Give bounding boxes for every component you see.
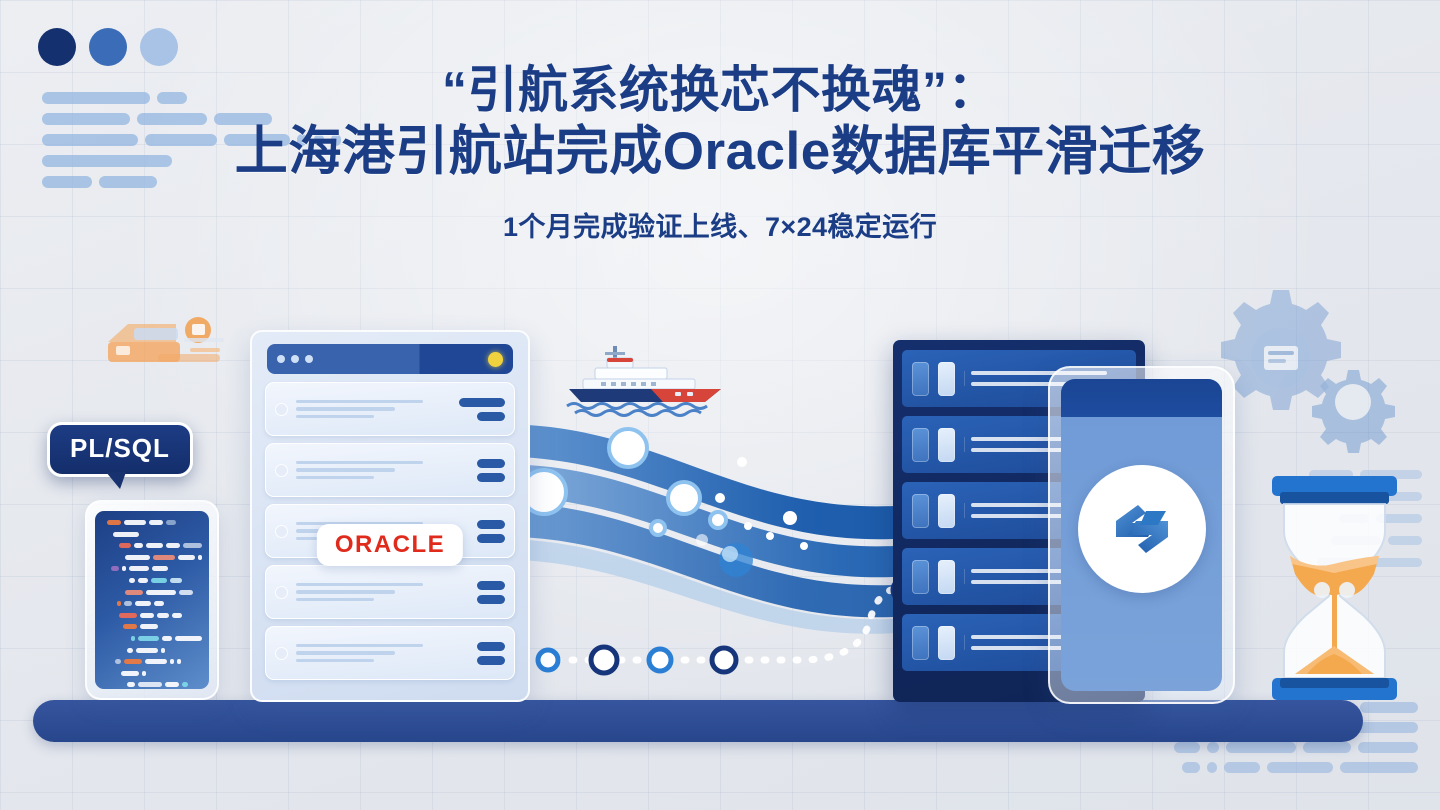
code-line bbox=[102, 565, 202, 572]
base-platform-bar bbox=[33, 700, 1363, 742]
migration-path-node bbox=[538, 650, 558, 670]
page-subtitle: 1个月完成验证上线、7×24稳定运行 bbox=[0, 205, 1440, 244]
orange-boat-icon bbox=[98, 308, 238, 380]
slot-button-icon[interactable] bbox=[477, 595, 505, 604]
slot-label-bars bbox=[296, 461, 437, 479]
slot-button-icon[interactable] bbox=[477, 581, 505, 590]
code-token bbox=[166, 543, 179, 548]
decor-code-bar bbox=[1174, 742, 1200, 753]
slot-label-bars bbox=[296, 583, 437, 601]
rack-slot[interactable] bbox=[265, 626, 515, 680]
code-token bbox=[123, 624, 137, 629]
oracle-logo-badge: ORACLE bbox=[317, 524, 463, 566]
slot-controls bbox=[445, 398, 505, 421]
slot-controls bbox=[445, 581, 505, 604]
slot-indicator-icon bbox=[275, 464, 288, 477]
code-token bbox=[177, 659, 181, 664]
drive-bay-icon bbox=[938, 560, 955, 594]
drive-bay-icon bbox=[912, 560, 929, 594]
slot-button-icon[interactable] bbox=[477, 534, 505, 543]
slot-label-bar bbox=[296, 400, 423, 403]
slot-label-bar bbox=[296, 476, 374, 479]
slot-label-bar bbox=[296, 407, 395, 410]
slot-button-icon[interactable] bbox=[477, 473, 505, 482]
code-token bbox=[135, 601, 151, 606]
drive-bay-icon bbox=[938, 626, 955, 660]
code-token bbox=[162, 636, 172, 641]
tablet-status-bar bbox=[1061, 379, 1222, 417]
code-line bbox=[102, 531, 202, 538]
code-token bbox=[129, 566, 149, 571]
code-token bbox=[119, 543, 131, 548]
slot-label-bar bbox=[296, 415, 374, 418]
code-editor-tablet[interactable] bbox=[85, 500, 219, 700]
rack-slot[interactable] bbox=[265, 565, 515, 619]
code-token bbox=[124, 659, 142, 664]
flow-node bbox=[609, 429, 647, 467]
slot-label-bar bbox=[296, 644, 423, 647]
code-line bbox=[102, 647, 202, 654]
code-token bbox=[140, 624, 158, 629]
rack-slot[interactable] bbox=[265, 382, 515, 436]
code-token bbox=[151, 578, 167, 583]
migration-path-node bbox=[649, 649, 671, 671]
decor-code-bar bbox=[1340, 762, 1418, 773]
code-token bbox=[179, 590, 193, 595]
slot-label-bars bbox=[296, 644, 437, 662]
code-token bbox=[107, 520, 121, 525]
status-dot-icon bbox=[305, 355, 313, 363]
page-title-line1: “引航系统换芯不换魂”： bbox=[0, 62, 1440, 118]
code-token bbox=[157, 613, 169, 618]
mobile-app-tablet[interactable] bbox=[1048, 366, 1235, 704]
code-line bbox=[102, 600, 202, 607]
flow-node bbox=[710, 512, 726, 528]
code-token bbox=[125, 555, 150, 560]
slot-controls bbox=[445, 459, 505, 482]
drive-bay-icon bbox=[938, 494, 955, 528]
dot-dark-icon bbox=[38, 28, 76, 66]
code-token bbox=[149, 520, 163, 525]
status-dot-icon bbox=[291, 355, 299, 363]
code-token bbox=[183, 543, 202, 548]
slot-button-icon[interactable] bbox=[477, 656, 505, 665]
code-line bbox=[102, 670, 202, 677]
code-token bbox=[146, 543, 163, 548]
code-line bbox=[102, 577, 202, 584]
code-token bbox=[165, 682, 179, 687]
slot-label-bar bbox=[296, 461, 423, 464]
rack-status-dots bbox=[277, 355, 313, 363]
slot-indicator-icon bbox=[275, 403, 288, 416]
slot-button-icon[interactable] bbox=[477, 459, 505, 468]
code-token bbox=[154, 601, 164, 606]
drive-bay-icon bbox=[938, 362, 955, 396]
code-token bbox=[166, 520, 176, 525]
code-token bbox=[152, 566, 168, 571]
code-line bbox=[102, 519, 202, 526]
rack-slot[interactable] bbox=[265, 443, 515, 497]
decor-code-bar bbox=[1224, 762, 1260, 773]
poster-canvas: “引航系统换芯不换魂”： 上海港引航站完成Oracle数据库平滑迁移 1个月完成… bbox=[0, 0, 1440, 810]
slot-indicator-icon bbox=[275, 525, 288, 538]
slot-label-bar bbox=[296, 651, 395, 654]
pilot-ship-icon bbox=[555, 340, 735, 420]
code-editor-screen bbox=[95, 511, 209, 689]
code-token bbox=[175, 636, 202, 641]
code-token bbox=[136, 648, 158, 653]
code-token bbox=[119, 613, 137, 618]
slot-label-bar bbox=[296, 468, 395, 471]
code-token bbox=[172, 613, 182, 618]
drive-bay-icon bbox=[912, 494, 929, 528]
tablet-screen bbox=[1061, 379, 1222, 691]
slot-indicator-icon bbox=[275, 647, 288, 660]
decor-code-bar bbox=[1182, 762, 1200, 773]
decor-code-row bbox=[1174, 742, 1418, 753]
code-token bbox=[117, 601, 121, 606]
slot-label-bars bbox=[296, 400, 437, 418]
migration-path-node bbox=[712, 648, 736, 672]
dot-light-icon bbox=[140, 28, 178, 66]
decor-code-bar bbox=[1356, 722, 1418, 733]
drive-bay-icon bbox=[912, 428, 929, 462]
flow-node bbox=[668, 482, 700, 514]
slot-label-bar bbox=[296, 583, 423, 586]
code-token bbox=[178, 555, 195, 560]
decor-code-bar bbox=[1207, 742, 1219, 753]
slot-controls bbox=[445, 642, 505, 665]
slot-label-bar bbox=[296, 659, 374, 662]
code-token bbox=[124, 520, 146, 525]
code-token bbox=[111, 566, 119, 571]
dot-mid-icon bbox=[89, 28, 127, 66]
code-token bbox=[161, 648, 165, 653]
drive-bay-icon bbox=[912, 626, 929, 660]
code-line bbox=[102, 589, 202, 596]
code-line bbox=[102, 623, 202, 630]
slot-button-icon[interactable] bbox=[477, 412, 505, 421]
oracle-server-rack[interactable]: ORACLE bbox=[250, 330, 530, 702]
slot-label-bar bbox=[296, 598, 374, 601]
code-token bbox=[121, 671, 139, 676]
decor-code-bar bbox=[1267, 762, 1333, 773]
code-line bbox=[102, 612, 202, 619]
code-line bbox=[102, 681, 202, 688]
code-token bbox=[198, 555, 202, 560]
header-block: “引航系统换芯不换魂”： 上海港引航站完成Oracle数据库平滑迁移 1个月完成… bbox=[0, 62, 1440, 244]
drive-bay-icon bbox=[912, 362, 929, 396]
slot-label-bar bbox=[296, 590, 395, 593]
code-line bbox=[102, 658, 202, 665]
decor-code-bar bbox=[1303, 742, 1351, 753]
migration-path-node bbox=[591, 647, 617, 673]
code-token bbox=[170, 578, 182, 583]
code-token bbox=[127, 648, 133, 653]
drive-bay-icon bbox=[938, 428, 955, 462]
slot-indicator-icon bbox=[275, 586, 288, 599]
decor-code-bar bbox=[1226, 742, 1296, 753]
decor-code-row bbox=[1174, 762, 1418, 773]
slot-button-icon[interactable] bbox=[459, 398, 505, 407]
pilot-station-logo-icon bbox=[1078, 465, 1206, 593]
code-token bbox=[122, 566, 126, 571]
code-token bbox=[182, 682, 188, 687]
code-token bbox=[115, 659, 121, 664]
code-token bbox=[138, 682, 162, 687]
code-token bbox=[131, 636, 135, 641]
flow-node bbox=[651, 521, 665, 535]
code-token bbox=[127, 682, 135, 687]
code-token bbox=[129, 578, 135, 583]
decor-code-bar bbox=[1207, 762, 1217, 773]
code-token bbox=[146, 590, 176, 595]
code-token bbox=[170, 659, 174, 664]
power-led-icon bbox=[488, 352, 503, 367]
plsql-badge[interactable]: PL/SQL bbox=[47, 422, 193, 477]
page-title-line2: 上海港引航站完成Oracle数据库平滑迁移 bbox=[0, 122, 1440, 181]
code-token bbox=[134, 543, 144, 548]
code-token bbox=[138, 636, 159, 641]
code-token bbox=[145, 659, 167, 664]
decor-code-bar bbox=[1358, 742, 1418, 753]
code-line bbox=[102, 542, 202, 549]
rack-header-bar bbox=[267, 344, 513, 374]
code-token bbox=[142, 671, 146, 676]
code-token bbox=[124, 601, 132, 606]
code-line bbox=[102, 554, 202, 561]
code-token bbox=[125, 590, 143, 595]
hourglass-icon bbox=[1262, 470, 1407, 710]
code-token bbox=[138, 578, 148, 583]
slot-button-icon[interactable] bbox=[477, 642, 505, 651]
slot-button-icon[interactable] bbox=[477, 520, 505, 529]
code-token bbox=[113, 532, 139, 537]
oracle-logo-text: ORACLE bbox=[335, 531, 445, 558]
code-token bbox=[140, 613, 154, 618]
code-token bbox=[153, 555, 174, 560]
decor-dots-group bbox=[38, 28, 178, 66]
code-line bbox=[102, 635, 202, 642]
status-dot-icon bbox=[277, 355, 285, 363]
